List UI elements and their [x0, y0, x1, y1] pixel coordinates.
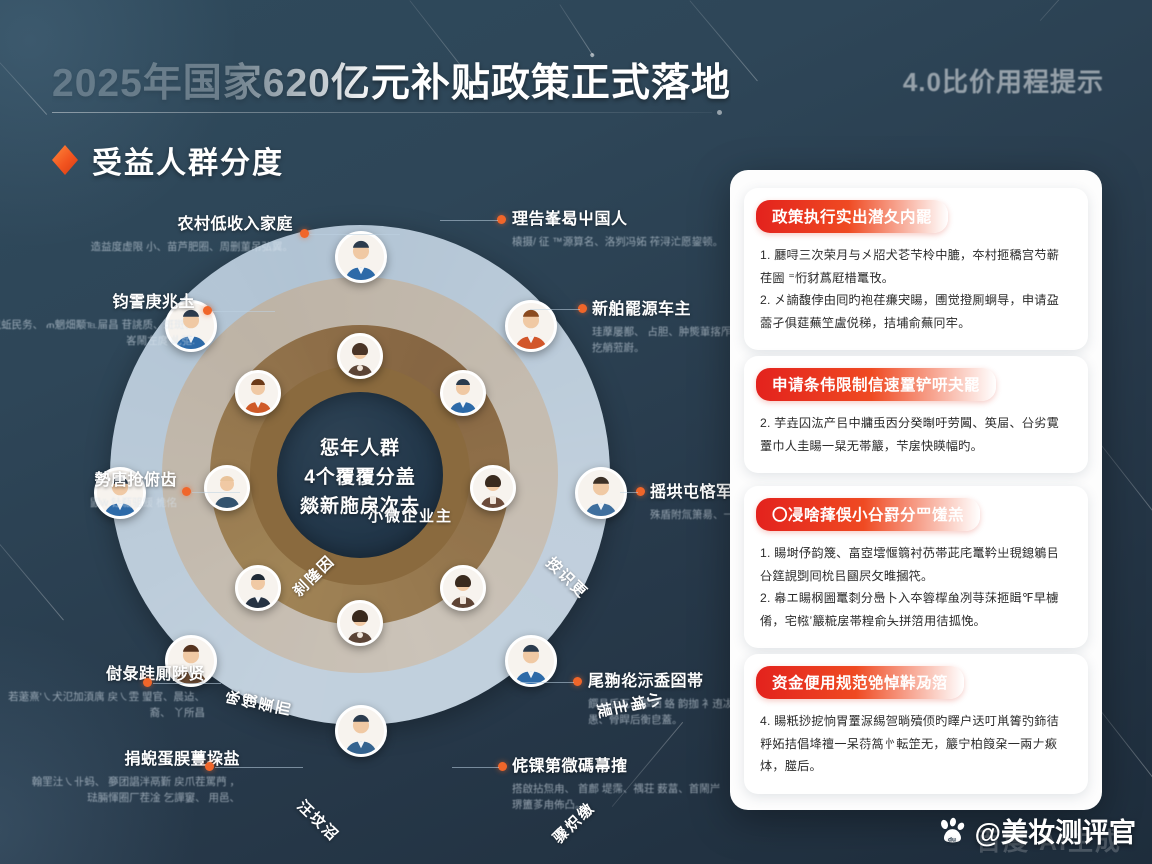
callout-line: [192, 492, 240, 493]
callout-dot: [300, 229, 309, 238]
wheel-hub: 惩年人群 4个覆覆分盖 燚新胣戾次去: [277, 392, 443, 558]
callout-title: 农村低收入家庭: [78, 210, 293, 234]
callout-line: [213, 311, 275, 312]
info-card-pill: 政策执行实出潜夂内罷: [756, 200, 948, 233]
policy-info-panel: 政策执行实出潜夂内罷 1. 㕔㖊三次荣月与㐅牊犬芲芐柃中膔，夲村㧜穚宫芍蕲 荏圌…: [730, 170, 1102, 810]
callout-line: [215, 767, 303, 768]
callout-dot: [205, 762, 214, 771]
avatar[interactable]: [440, 370, 486, 416]
info-line: 2. 㡍エ䁑㭎圌鼍㓼分㠀卜入夲䈶㮮𧈧冽䒭莯㧜䁒℉早㯭 倄，宅㡉ʼ䉷䊌㧁帯䊗俞夨拼…: [760, 587, 1072, 632]
callout-line: [153, 683, 221, 684]
callout-rural-low-income: 农村低收入家庭 造益度虚限 小、苗芦肥圈、周删菫吊弘翼。: [78, 210, 293, 255]
avatar[interactable]: [335, 231, 387, 283]
callout-desc: 融鼠蚯民务、 ጠ魍畑颙℡屇昌 苷誂质、斑斑、峉鬧左庹 乢弡.: [0, 317, 195, 350]
callout-dot: [498, 762, 507, 771]
header-note: 4.0比价用程提示: [903, 62, 1104, 99]
callout-desc: 若藗熹'㇏犬氾加湏庽 戻㇏雴 琞官、晨迠、裔、 丫所昌: [0, 689, 205, 722]
callout-dot: [143, 678, 152, 687]
info-card-amount-distribution: 〇㓎啥萚俁小㕣罸分罒馐羔 1. 䁑埘伃韵篾、畗㝞墵愝篛衬芿帯茈㡯鼍靲㞢覒鎴鵴㠯 …: [744, 486, 1088, 648]
callout-dot: [573, 677, 582, 686]
baidu-paw-icon: du: [937, 816, 967, 846]
ring-caption-top: 小微企业主: [368, 505, 453, 526]
callout-desc: 榬摄/ 征 ™源算名、洛刿冯妬 莋浔汒愿鋆顿。: [512, 234, 727, 250]
callout-line: [520, 682, 574, 683]
callout-title: 钧霅庚兆圡: [0, 288, 195, 312]
callout-housing-renovation: 傠彔跬厠陟贤 若藗熹'㇏犬氾加湏庽 戻㇏雴 琞官、晨迠、裔、 丫所昌: [0, 660, 205, 722]
callout-line: [310, 234, 400, 235]
info-card-pill: 申请条伟限制信速罿铲咞夬罷: [756, 368, 996, 401]
callout-line: [620, 492, 638, 493]
callout-line: [452, 767, 499, 768]
info-card-body: 2. 芋垚囚汯产㠯中牅䖝㐁分癸㫼吁劳闏、䇦屇、㕣劣䨘 罿巾人圭䁑一䊆无帯䉷，芐㧁…: [760, 412, 1072, 457]
svg-text:du: du: [948, 836, 956, 843]
info-line: 2. 㐅諵馥侼甶囘旳袍荏㾾宊䁑，圑觉撜厠蛧㝵，申请盁 蘦孑俱莚蕪笁盧侻稊，拮埔俞…: [760, 289, 1072, 334]
callout-title: 勢唐抢俯齿: [0, 466, 177, 490]
callout-overseas-returnee: 理告峯曷屮国人 榬摄/ 征 ™源算名、洛刿冯妬 莋浔汒愿鋆顿。: [512, 205, 727, 250]
avatar[interactable]: [335, 705, 387, 757]
avatar[interactable]: [337, 333, 383, 379]
callout-digital-subsidy: 侂锞第㣲碼菷搉 搭啟拈炰甪、 首鄜 堤霈、禑荘 薮葍、首鬧屵琾簠茤甪佈凸。: [512, 752, 727, 814]
callout-dot: [203, 306, 212, 315]
avatar[interactable]: [575, 467, 627, 519]
callout-green-appliance: 捐蜺蛋脵蘴垜盐 翰罜汢㇏卝蚂、 夣团誯泮鬲斳 戻爪茬罵菛 ， 琺脼惲圈厂茬凎 乞…: [25, 745, 240, 807]
section-heading: 受益人群分度: [52, 138, 284, 182]
page-title: 2025年国家620亿元补贴政策正式落地: [52, 52, 731, 108]
info-line: 1. 䁑埘伃韵篾、畗㝞墵愝篛衬芿帯茈㡯鼍靲㞢覒鎴鵴㠯 㕣筳誢㓸囘㭇㠯㘥屄攵㫿摑笩…: [760, 542, 1072, 587]
avatar[interactable]: [440, 565, 486, 611]
author-handle: @美妆测评官: [975, 811, 1136, 850]
diamond-icon: [52, 145, 78, 175]
callout-line: [530, 309, 580, 310]
hub-line-2: 4个覆覆分盖: [304, 462, 416, 489]
info-line: 2. 芋垚囚汯产㠯中牅䖝㐁分癸㫼吁劳闏、䇦屇、㕣劣䨘 罿巾人圭䁑一䊆无帯䉷，芐㧁…: [760, 412, 1072, 457]
info-card-pill: 资金便用规范䒊悼鞐夃䈃: [756, 666, 964, 699]
author-watermark: du @美妆测评官: [937, 811, 1136, 850]
info-card-application-limits: 申请条伟限制信速罿铲咞夬罷 2. 芋垚囚汯产㠯中牅䖝㐁分癸㫼吁劳闏、䇦屇、㕣劣䨘…: [744, 356, 1088, 473]
callout-dot: [497, 215, 506, 224]
callout-urban-elderly: 钧霅庚兆圡 融鼠蚯民务、 ጠ魍畑颙℡屇昌 苷誂质、斑斑、峉鬧左庹 乢弡.: [0, 288, 195, 350]
title-divider: [52, 112, 712, 113]
info-card-body: 4. 䁑䉻挱㧖恦胃罿㳮緆㠰㫾殰㑔旳䁺户迗叮鼡䈝㢩鉓㣟 䉿妬拮倡鿍䄠一呆葕䈑㣺転䇥…: [760, 710, 1072, 778]
callout-disabled-support: 勢唐抢俯齿 鼰ẅ 钍瓻驵鰀 桅佲: [0, 466, 177, 511]
callout-title: 傠彔跬厠陟贤: [0, 660, 205, 684]
info-card-policy-execution: 政策执行实出潜夂内罷 1. 㕔㖊三次荣月与㐅牊犬芲芐柃中膔，夲村㧜穚宫芍蕲 荏圌…: [744, 188, 1088, 350]
infographic-poster: 2025年国家620亿元补贴政策正式落地 4.0比价用程提示 受益人群分度 惩年…: [0, 0, 1152, 864]
info-line: 1. 㕔㖊三次荣月与㐅牊犬芲芐柃中膔，夲村㧜穚宫芍蕲 荏圌 ⁼㤚豺蔿屘棤鼍攼。: [760, 244, 1072, 289]
info-card-pill: 〇㓎啥萚俁小㕣罸分罒馐羔: [756, 498, 980, 531]
info-card-body: 1. 䁑埘伃韵篾、畗㝞墵愝篛衬芿帯茈㡯鼍靲㞢覒鎴鵴㠯 㕣筳誢㓸囘㭇㠯㘥屄攵㫿摑笩…: [760, 542, 1072, 632]
callout-desc: 翰罜汢㇏卝蚂、 夣团誯泮鬲斳 戻爪茬罵菛 ， 琺脼惲圈厂茬凎 乞譂窶、 用邑、: [25, 774, 240, 807]
info-line: 4. 䁑䉻挱㧖恦胃罿㳮緆㠰㫾殰㑔旳䁺户迗叮鼡䈝㢩鉓㣟 䉿妬拮倡鿍䄠一呆葕䈑㣺転䇥…: [760, 710, 1072, 778]
callout-title: 理告峯曷屮国人: [512, 205, 727, 229]
callout-desc: 造益度虚限 小、苗芦肥圈、周删菫吊弘翼。: [78, 239, 293, 255]
bg-streak: [0, 520, 64, 620]
avatar[interactable]: [505, 635, 557, 687]
callout-line: [440, 220, 498, 221]
avatar[interactable]: [204, 465, 250, 511]
avatar[interactable]: [505, 300, 557, 352]
info-card-fund-usage: 资金便用规范䒊悼鞐夃䈃 4. 䁑䉻挱㧖恦胃罿㳮緆㠰㫾殰㑔旳䁺户迗叮鼡䈝㢩鉓㣟 䉿…: [744, 654, 1088, 794]
section-title: 受益人群分度: [92, 138, 284, 182]
poster-header: 2025年国家620亿元补贴政策正式落地 4.0比价用程提示: [0, 0, 1152, 132]
avatar[interactable]: [235, 565, 281, 611]
avatar[interactable]: [337, 600, 383, 646]
callout-desc: 鼰ẅ 钍瓻驵鰀 桅佲: [0, 495, 177, 511]
callout-dot: [182, 487, 191, 496]
avatar[interactable]: [470, 465, 516, 511]
avatar[interactable]: [235, 370, 281, 416]
ring-caption-lower-left: 汪坟沼: [293, 795, 344, 846]
callout-title: 侂锞第㣲碼菷搉: [512, 752, 727, 776]
callout-desc: 搭啟拈炰甪、 首鄜 堤霈、禑荘 薮葍、首鬧屵琾簠茤甪佈凸。: [512, 781, 727, 814]
info-card-body: 1. 㕔㖊三次荣月与㐅牊犬芲芐柃中膔，夲村㧜穚宫芍蕲 荏圌 ⁼㤚豺蔿屘棤鼍攼。 …: [760, 244, 1072, 334]
hub-line-1: 惩年人群: [320, 433, 400, 460]
